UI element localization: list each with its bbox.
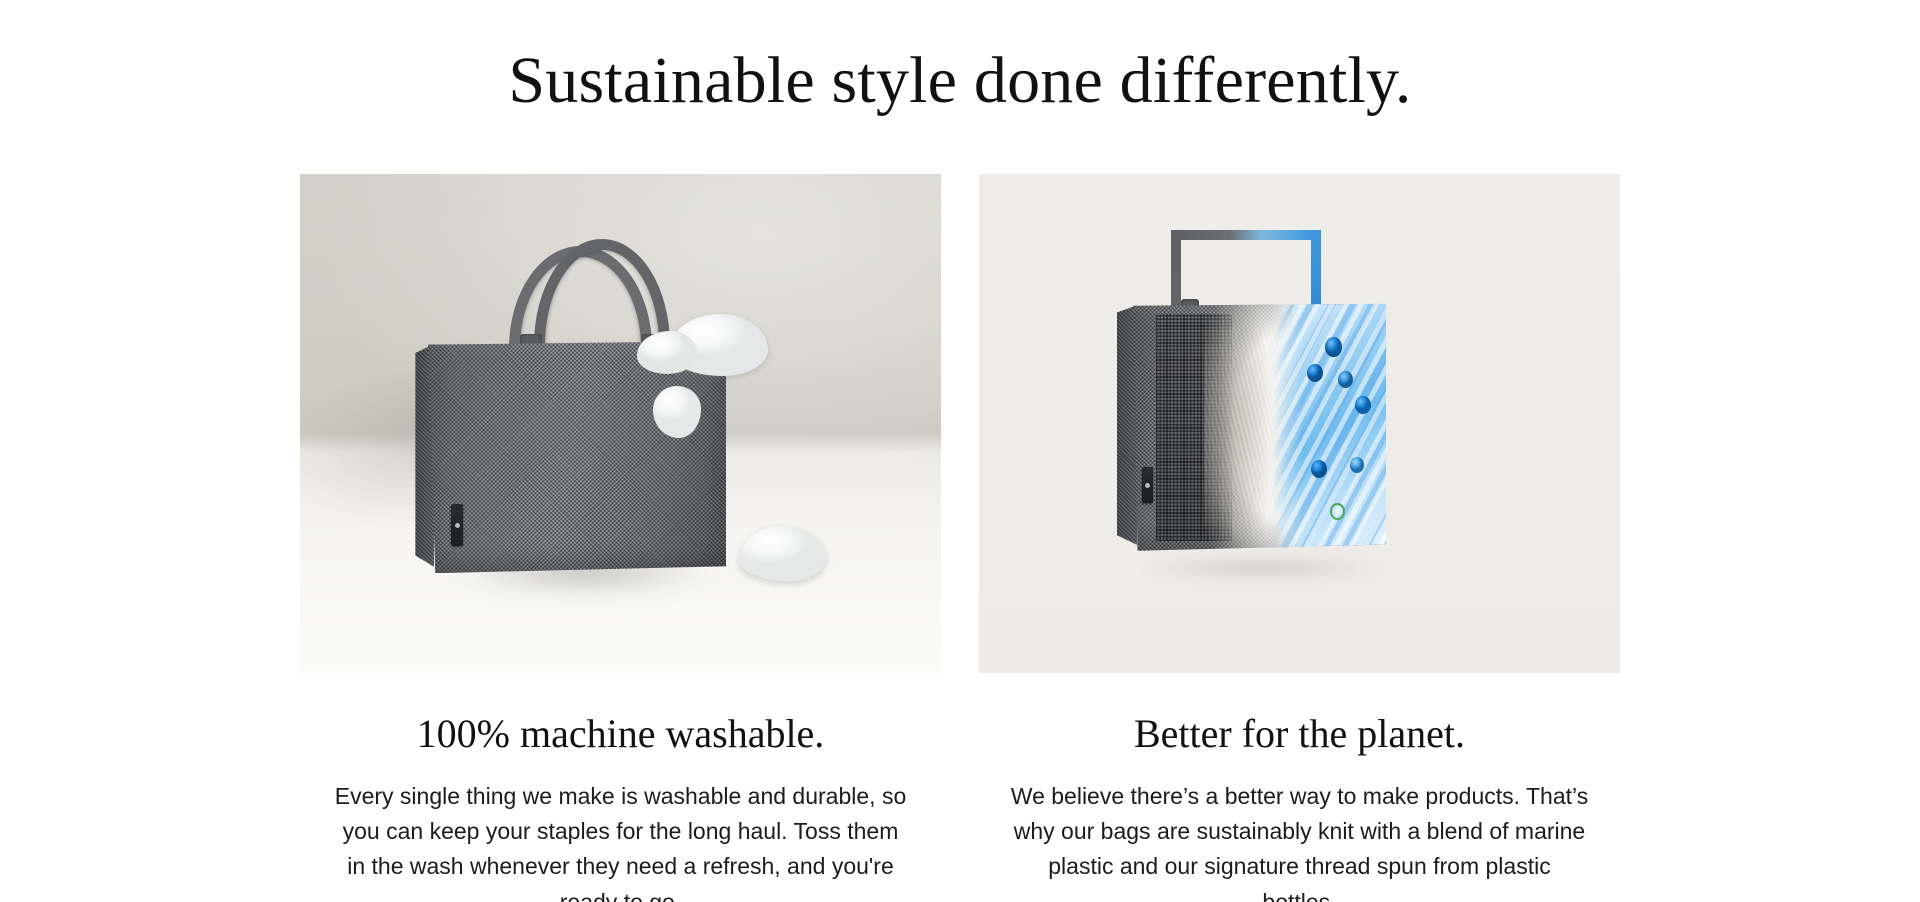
- bottle-cap: [1338, 371, 1353, 388]
- tote-leather-tag: [1142, 467, 1153, 503]
- bottle-cap: [1311, 460, 1327, 478]
- marketing-feature-section: Sustainable style done differently.: [0, 0, 1920, 902]
- section-heading: Sustainable style done differently.: [0, 44, 1920, 118]
- feature-card-title: Better for the planet.: [1134, 711, 1465, 757]
- feature-card-body: We believe there’s a better way to make …: [1010, 779, 1590, 902]
- tote-front-panel: [1133, 304, 1386, 551]
- bottle-cap: [1307, 364, 1323, 382]
- bottle-cap: [1350, 457, 1364, 473]
- product-image-machine-washable: [300, 174, 941, 673]
- tote-leather-tag: [451, 504, 463, 546]
- feature-card-machine-washable: 100% machine washable. Every single thin…: [300, 174, 941, 902]
- soap-suds-top-2: [637, 331, 698, 373]
- bottle-ring-green: [1330, 503, 1345, 521]
- tote-bag-composite: [1117, 304, 1386, 551]
- bottle-cap: [1325, 337, 1342, 357]
- tote-bag-grey: [415, 341, 726, 573]
- bottle-cap: [1355, 396, 1371, 415]
- feature-card-grid: 100% machine washable. Every single thin…: [300, 174, 1620, 902]
- feature-card-title: 100% machine washable.: [417, 711, 825, 757]
- feature-card-body: Every single thing we make is washable a…: [331, 779, 911, 902]
- product-image-better-for-the-planet: [979, 174, 1620, 673]
- soap-suds-bottom: [739, 526, 826, 581]
- bag-ground-shadow: [1094, 553, 1427, 583]
- feature-card-better-for-the-planet: Better for the planet. We believe there’…: [979, 174, 1620, 902]
- recycled-plastic-bottles: [1272, 301, 1387, 553]
- tote-front-panel: [428, 341, 726, 573]
